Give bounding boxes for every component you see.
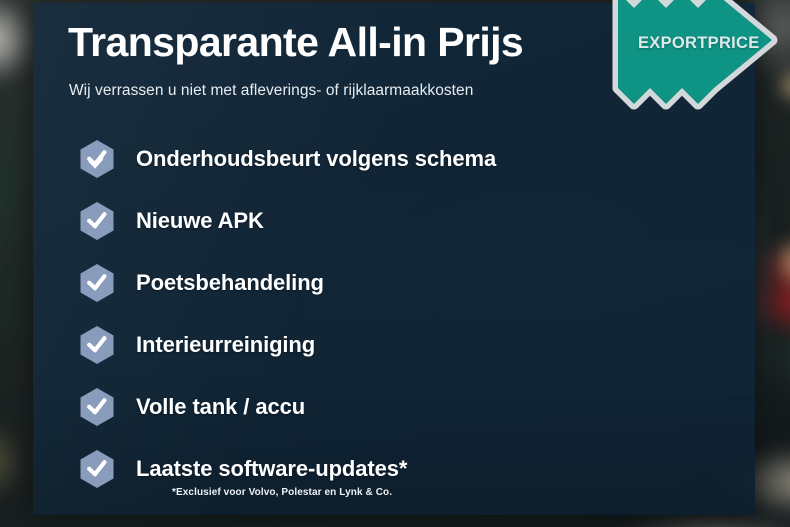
page-title: Transparante All-in Prijs xyxy=(68,21,523,64)
check-hexagon-icon xyxy=(79,263,115,303)
exportprice-logo[interactable]: EXPORTPRICE xyxy=(608,0,790,110)
footnote-text: *Exclusief voor Volvo, Polestar en Lynk … xyxy=(172,487,392,498)
feature-label: Poetsbehandeling xyxy=(136,270,324,296)
feature-label: Laatste software-updates* xyxy=(136,456,407,482)
check-hexagon-icon xyxy=(79,387,115,427)
feature-label: Interieurreiniging xyxy=(136,332,315,358)
list-item: Onderhoudsbeurt volgens schema xyxy=(79,128,699,190)
list-item: Interieurreiniging xyxy=(79,314,699,376)
check-hexagon-icon xyxy=(79,325,115,365)
check-hexagon-icon xyxy=(79,139,115,179)
feature-label: Nieuwe APK xyxy=(136,208,264,234)
list-item: Poetsbehandeling xyxy=(79,252,699,314)
promo-banner: Transparante All-in Prijs Wij verrassen … xyxy=(0,0,790,527)
check-hexagon-icon xyxy=(79,201,115,241)
logo-text: EXPORTPRICE xyxy=(638,34,760,53)
feature-label: Volle tank / accu xyxy=(136,394,305,420)
list-item: Volle tank / accu xyxy=(79,376,699,438)
page-subtitle: Wij verrassen u niet met afleverings- of… xyxy=(69,82,473,100)
feature-list: Onderhoudsbeurt volgens schema Nieuwe AP… xyxy=(79,128,699,500)
list-item: Nieuwe APK xyxy=(79,190,699,252)
feature-label: Onderhoudsbeurt volgens schema xyxy=(136,146,496,172)
check-hexagon-icon xyxy=(79,449,115,489)
